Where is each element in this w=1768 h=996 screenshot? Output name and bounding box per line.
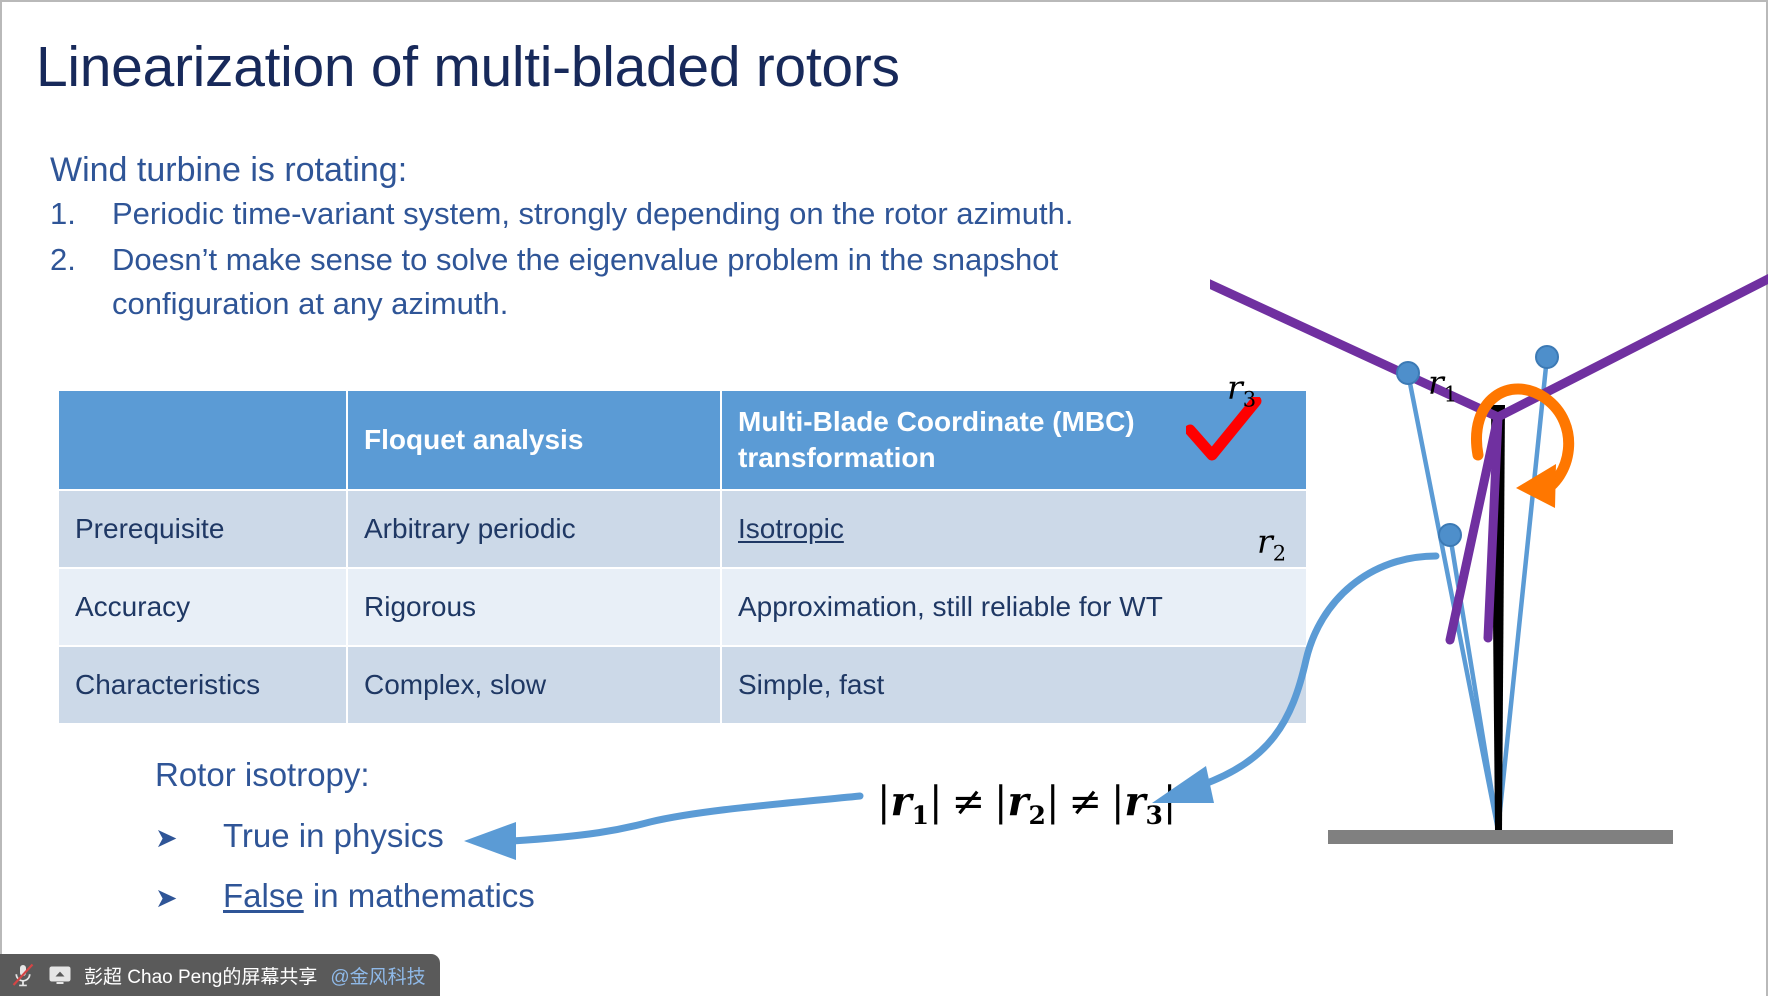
isotropy-item-key: True — [223, 817, 290, 854]
formula-bar: | — [1111, 779, 1124, 825]
intro-item-text: Doesn’t make sense to solve the eigenval… — [112, 238, 1150, 326]
table-header-floquet: Floquet analysis — [348, 391, 720, 489]
formula-bar: | — [929, 779, 942, 825]
table-header-row: Floquet analysis Multi-Blade Coordinate … — [59, 391, 1306, 489]
radius-line-r3 — [1408, 373, 1498, 830]
formula-bar: | — [877, 779, 890, 825]
label-r1: r1 — [1428, 363, 1457, 407]
arrow-bullet-icon: ➤ — [155, 883, 223, 914]
isotropy-item-key: False — [223, 877, 304, 914]
intro-item-text: Periodic time-variant system, strongly d… — [112, 192, 1150, 236]
table-cell-floquet: Arbitrary periodic — [348, 491, 720, 567]
label-r1-sub: 1 — [1444, 383, 1457, 407]
intro-heading: Wind turbine is rotating: — [50, 150, 1150, 190]
screen-share-icon[interactable] — [47, 962, 73, 988]
slide-canvas: Linearization of multi-bladed rotors Win… — [0, 0, 1768, 996]
table-cell-mbc-text: Isotropic — [738, 513, 844, 544]
radius-line-r1 — [1498, 357, 1547, 830]
node-r3 — [1397, 362, 1419, 384]
isotropy-item-text: False in mathematics — [223, 877, 535, 915]
table-cell-label: Characteristics — [59, 647, 346, 723]
isotropy-item-rest: in mathematics — [304, 877, 535, 914]
share-owner-label: 彭超 Chao Peng的屏幕共享 — [84, 962, 317, 989]
table-row: Prerequisite Arbitrary periodic Isotropi… — [59, 491, 1306, 567]
table-cell-label: Prerequisite — [59, 491, 346, 567]
intro-list-item: 1. Periodic time-variant system, strongl… — [50, 192, 1150, 236]
formula-r2-sub: 2 — [1029, 801, 1046, 830]
isotropy-item-text: True in physics — [223, 817, 444, 855]
formula-not-equal: ≠ — [1059, 779, 1111, 825]
intro-item-number: 2. — [50, 238, 112, 326]
rotor-svg — [1210, 250, 1768, 950]
label-r2-sub: 2 — [1273, 542, 1286, 566]
node-r1 — [1536, 346, 1558, 368]
node-r2 — [1439, 524, 1461, 546]
microphone-muted-icon[interactable] — [10, 962, 36, 988]
pointer-arrow-to-true-in-physics — [450, 760, 870, 880]
screen-share-taskbar[interactable]: 彭超 Chao Peng的屏幕共享 @金风科技 — [0, 954, 440, 996]
intro-list-item: 2. Doesn’t make sense to solve the eigen… — [50, 238, 1150, 326]
intro-item-number: 1. — [50, 192, 112, 236]
arrow-bullet-icon: ➤ — [155, 823, 223, 854]
table-header-blank — [59, 391, 346, 489]
comparison-table: Floquet analysis Multi-Blade Coordinate … — [57, 389, 1308, 725]
label-r3: r3 — [1227, 368, 1256, 412]
table-cell-label: Accuracy — [59, 569, 346, 645]
formula-r1: r — [890, 778, 911, 825]
table-cell-floquet: Rigorous — [348, 569, 720, 645]
inequality-formula: |r1|≠|r2|≠|r3| — [877, 778, 1176, 830]
window-border-left — [0, 0, 2, 996]
table-row: Accuracy Rigorous Approximation, still r… — [59, 569, 1306, 645]
table-header-mbc-label: Multi-Blade Coordinate (MBC) transformat… — [738, 406, 1135, 473]
label-r2: r2 — [1257, 522, 1286, 566]
label-r2-base: r — [1257, 522, 1273, 561]
table-cell-floquet: Complex, slow — [348, 647, 720, 723]
formula-r1-sub: 1 — [912, 801, 929, 830]
table-row: Characteristics Complex, slow Simple, fa… — [59, 647, 1306, 723]
formula-bar: | — [1046, 779, 1059, 825]
share-org-label: @金风科技 — [330, 962, 425, 989]
label-r3-sub: 3 — [1243, 388, 1256, 412]
slide-title: Linearization of multi-bladed rotors — [36, 36, 900, 100]
label-r3-base: r — [1227, 368, 1243, 407]
formula-r2: r — [1007, 778, 1028, 825]
label-r1-base: r — [1428, 363, 1444, 402]
formula-not-equal: ≠ — [942, 779, 994, 825]
three-bladed-rotor-diagram: r1 r3 r2 — [1210, 250, 1768, 950]
intro-block: Wind turbine is rotating: 1. Periodic ti… — [50, 150, 1150, 326]
formula-bar: | — [994, 779, 1007, 825]
isotropy-item-rest: in physics — [290, 817, 444, 854]
ground-line — [1328, 830, 1673, 844]
isotropy-list-item: ➤ False in mathematics — [155, 877, 535, 915]
window-border-top — [0, 0, 1768, 2]
